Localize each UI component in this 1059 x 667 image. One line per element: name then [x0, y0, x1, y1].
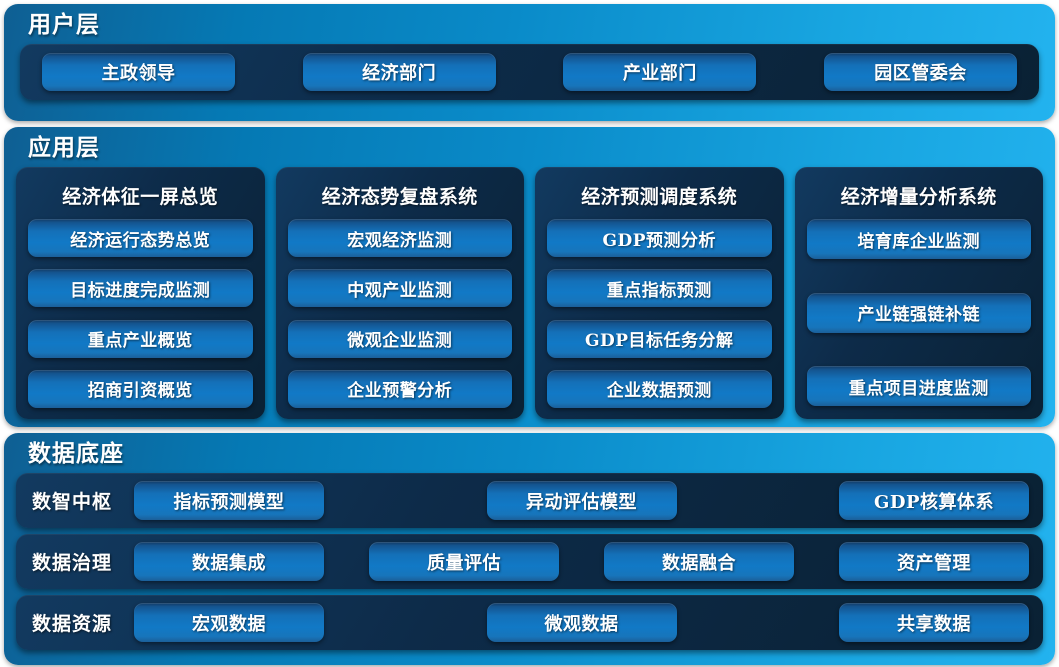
data-row-resources-items: 宏观数据 微观数据 共享数据 — [112, 603, 1029, 642]
app-column-forecast-system-title: 经济预测调度系统 — [547, 174, 772, 219]
app-item-key-indicator-forecast[interactable]: 重点指标预测 — [547, 269, 772, 307]
app-item-industry-chain-strengthening[interactable]: 产业链强链补链 — [807, 293, 1032, 333]
data-item-macro-data[interactable]: 宏观数据 — [134, 603, 324, 642]
app-column-review-system-items: 宏观经济监测 中观产业监测 微观企业监测 企业预警分析 — [288, 219, 513, 408]
data-item-gdp-accounting-system[interactable]: GDP核算体系 — [839, 481, 1029, 520]
app-column-increment-analysis: 经济增量分析系统 培育库企业监测 产业链强链补链 重点项目进度监测 — [795, 167, 1044, 419]
app-column-increment-analysis-items: 培育库企业监测 产业链强链补链 重点项目进度监测 — [807, 219, 1032, 408]
data-item-data-fusion[interactable]: 数据融合 — [604, 542, 794, 581]
data-item-data-integration[interactable]: 数据集成 — [134, 542, 324, 581]
user-item-economic-department[interactable]: 经济部门 — [303, 53, 496, 91]
user-item-park-committee[interactable]: 园区管委会 — [824, 53, 1017, 91]
layer-data-foundation-title: 数据底座 — [14, 433, 1045, 473]
app-item-enterprise-warning-analysis[interactable]: 企业预警分析 — [288, 370, 513, 408]
app-item-incubation-enterprise-monitoring[interactable]: 培育库企业监测 — [807, 219, 1032, 259]
app-column-overview-items: 经济运行态势总览 目标进度完成监测 重点产业概览 招商引资概览 — [28, 219, 253, 408]
app-item-gdp-forecast-analysis[interactable]: GDP预测分析 — [547, 219, 772, 257]
app-item-enterprise-data-forecast[interactable]: 企业数据预测 — [547, 370, 772, 408]
user-item-chief-leader[interactable]: 主政领导 — [42, 53, 235, 91]
app-column-overview: 经济体征一屏总览 经济运行态势总览 目标进度完成监测 重点产业概览 招商引资概览 — [16, 167, 265, 419]
architecture-diagram: 用户层 主政领导 经济部门 产业部门 园区管委会 应用层 经济体征一屏总览 经济… — [0, 0, 1059, 667]
data-item-micro-data[interactable]: 微观数据 — [487, 603, 677, 642]
app-column-review-system-title: 经济态势复盘系统 — [288, 174, 513, 219]
application-columns: 经济体征一屏总览 经济运行态势总览 目标进度完成监测 重点产业概览 招商引资概览… — [14, 167, 1045, 419]
data-row-governance-label: 数据治理 — [32, 548, 112, 575]
app-column-forecast-system: 经济预测调度系统 GDP预测分析 重点指标预测 GDP目标任务分解 企业数据预测 — [535, 167, 784, 419]
data-item-asset-management[interactable]: 资产管理 — [839, 542, 1029, 581]
app-item-economic-operation-overview[interactable]: 经济运行态势总览 — [28, 219, 253, 257]
data-row-intelligence-hub-label: 数智中枢 — [32, 487, 112, 514]
app-item-target-progress-monitoring[interactable]: 目标进度完成监测 — [28, 269, 253, 307]
data-row-intelligence-hub-items: 指标预测模型 异动评估模型 GDP核算体系 — [112, 481, 1029, 520]
app-item-gdp-target-task-breakdown[interactable]: GDP目标任务分解 — [547, 320, 772, 358]
app-column-overview-title: 经济体征一屏总览 — [28, 174, 253, 219]
app-column-increment-analysis-title: 经济增量分析系统 — [807, 174, 1032, 219]
app-item-macro-economy-monitoring[interactable]: 宏观经济监测 — [288, 219, 513, 257]
data-row-governance-items: 数据集成 质量评估 数据融合 资产管理 — [112, 542, 1029, 581]
layer-application-title: 应用层 — [14, 127, 1045, 167]
data-item-quality-assessment[interactable]: 质量评估 — [369, 542, 559, 581]
app-item-micro-enterprise-monitoring[interactable]: 微观企业监测 — [288, 320, 513, 358]
layer-data-foundation: 数据底座 数智中枢 指标预测模型 异动评估模型 GDP核算体系 数据治理 数据集… — [4, 433, 1055, 665]
layer-user: 用户层 主政领导 经济部门 产业部门 园区管委会 — [4, 4, 1055, 121]
data-row-resources: 数据资源 宏观数据 微观数据 共享数据 — [16, 595, 1043, 650]
app-column-review-system: 经济态势复盘系统 宏观经济监测 中观产业监测 微观企业监测 企业预警分析 — [276, 167, 525, 419]
app-item-meso-industry-monitoring[interactable]: 中观产业监测 — [288, 269, 513, 307]
app-column-forecast-system-items: GDP预测分析 重点指标预测 GDP目标任务分解 企业数据预测 — [547, 219, 772, 408]
data-item-shared-data[interactable]: 共享数据 — [839, 603, 1029, 642]
data-item-indicator-forecast-model[interactable]: 指标预测模型 — [134, 481, 324, 520]
user-item-industry-department[interactable]: 产业部门 — [563, 53, 756, 91]
data-foundation-rows: 数智中枢 指标预测模型 异动评估模型 GDP核算体系 数据治理 数据集成 质量评… — [14, 473, 1045, 650]
data-row-intelligence-hub: 数智中枢 指标预测模型 异动评估模型 GDP核算体系 — [16, 473, 1043, 528]
data-row-resources-label: 数据资源 — [32, 609, 112, 636]
app-item-key-industry-overview[interactable]: 重点产业概览 — [28, 320, 253, 358]
layer-user-title: 用户层 — [14, 4, 1045, 44]
app-item-key-project-progress-monitoring[interactable]: 重点项目进度监测 — [807, 366, 1032, 406]
data-item-anomaly-assessment-model[interactable]: 异动评估模型 — [487, 481, 677, 520]
data-row-governance: 数据治理 数据集成 质量评估 数据融合 资产管理 — [16, 534, 1043, 589]
layer-application: 应用层 经济体征一屏总览 经济运行态势总览 目标进度完成监测 重点产业概览 招商… — [4, 127, 1055, 427]
user-layer-bar: 主政领导 经济部门 产业部门 园区管委会 — [20, 44, 1039, 100]
app-item-investment-attraction-overview[interactable]: 招商引资概览 — [28, 370, 253, 408]
